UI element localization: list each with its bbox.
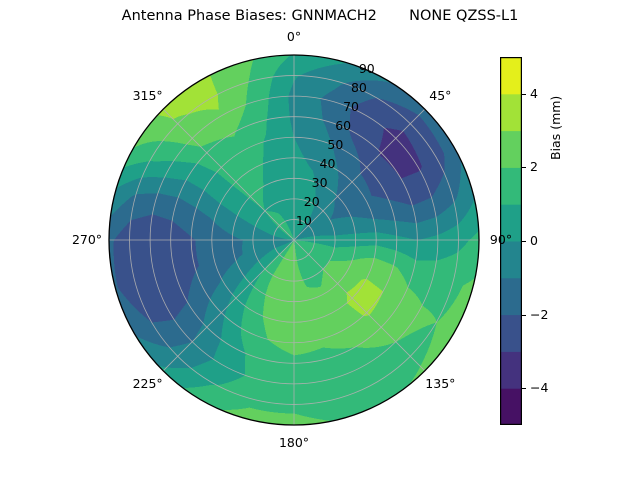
radial-tick-70: 70	[343, 100, 359, 114]
colorbar-tick-label: −2	[530, 308, 548, 322]
colorbar-tick-mark	[522, 94, 526, 95]
radial-tick-90: 90	[359, 62, 375, 76]
angle-tick-0: 0°	[287, 30, 301, 44]
page-title: Antenna Phase Biases: GNNMACH2 NONE QZSS…	[0, 6, 640, 26]
radial-tick-30: 30	[312, 176, 328, 190]
radial-tick-10: 10	[296, 214, 312, 228]
radial-tick-40: 40	[320, 157, 336, 171]
radial-tick-80: 80	[351, 81, 367, 95]
angle-tick-45: 45°	[429, 89, 451, 103]
angle-tick-180: 180°	[279, 436, 309, 450]
colorbar-tick-mark	[522, 241, 526, 242]
colorbar-tick-label: 2	[530, 160, 538, 174]
radial-tick-60: 60	[335, 119, 351, 133]
angle-tick-225: 225°	[133, 377, 163, 391]
radial-tick-50: 50	[327, 138, 343, 152]
colorbar-tick-label: 0	[530, 234, 538, 248]
angle-tick-315: 315°	[133, 89, 163, 103]
angle-tick-135: 135°	[425, 377, 455, 391]
colorbar-tick-label: 4	[530, 87, 538, 101]
angle-tick-270: 270°	[72, 233, 102, 247]
colorbar-tick-mark	[522, 315, 526, 316]
colorbar-tick-label: −4	[530, 381, 548, 395]
figure-canvas: Antenna Phase Biases: GNNMACH2 NONE QZSS…	[0, 0, 640, 480]
radial-tick-20: 20	[304, 195, 320, 209]
colorbar-axis-label: Bias (mm)	[548, 0, 563, 160]
angle-tick-90: 90°	[490, 233, 512, 247]
colorbar-tick-mark	[522, 167, 526, 168]
colorbar-tick-mark	[522, 388, 526, 389]
